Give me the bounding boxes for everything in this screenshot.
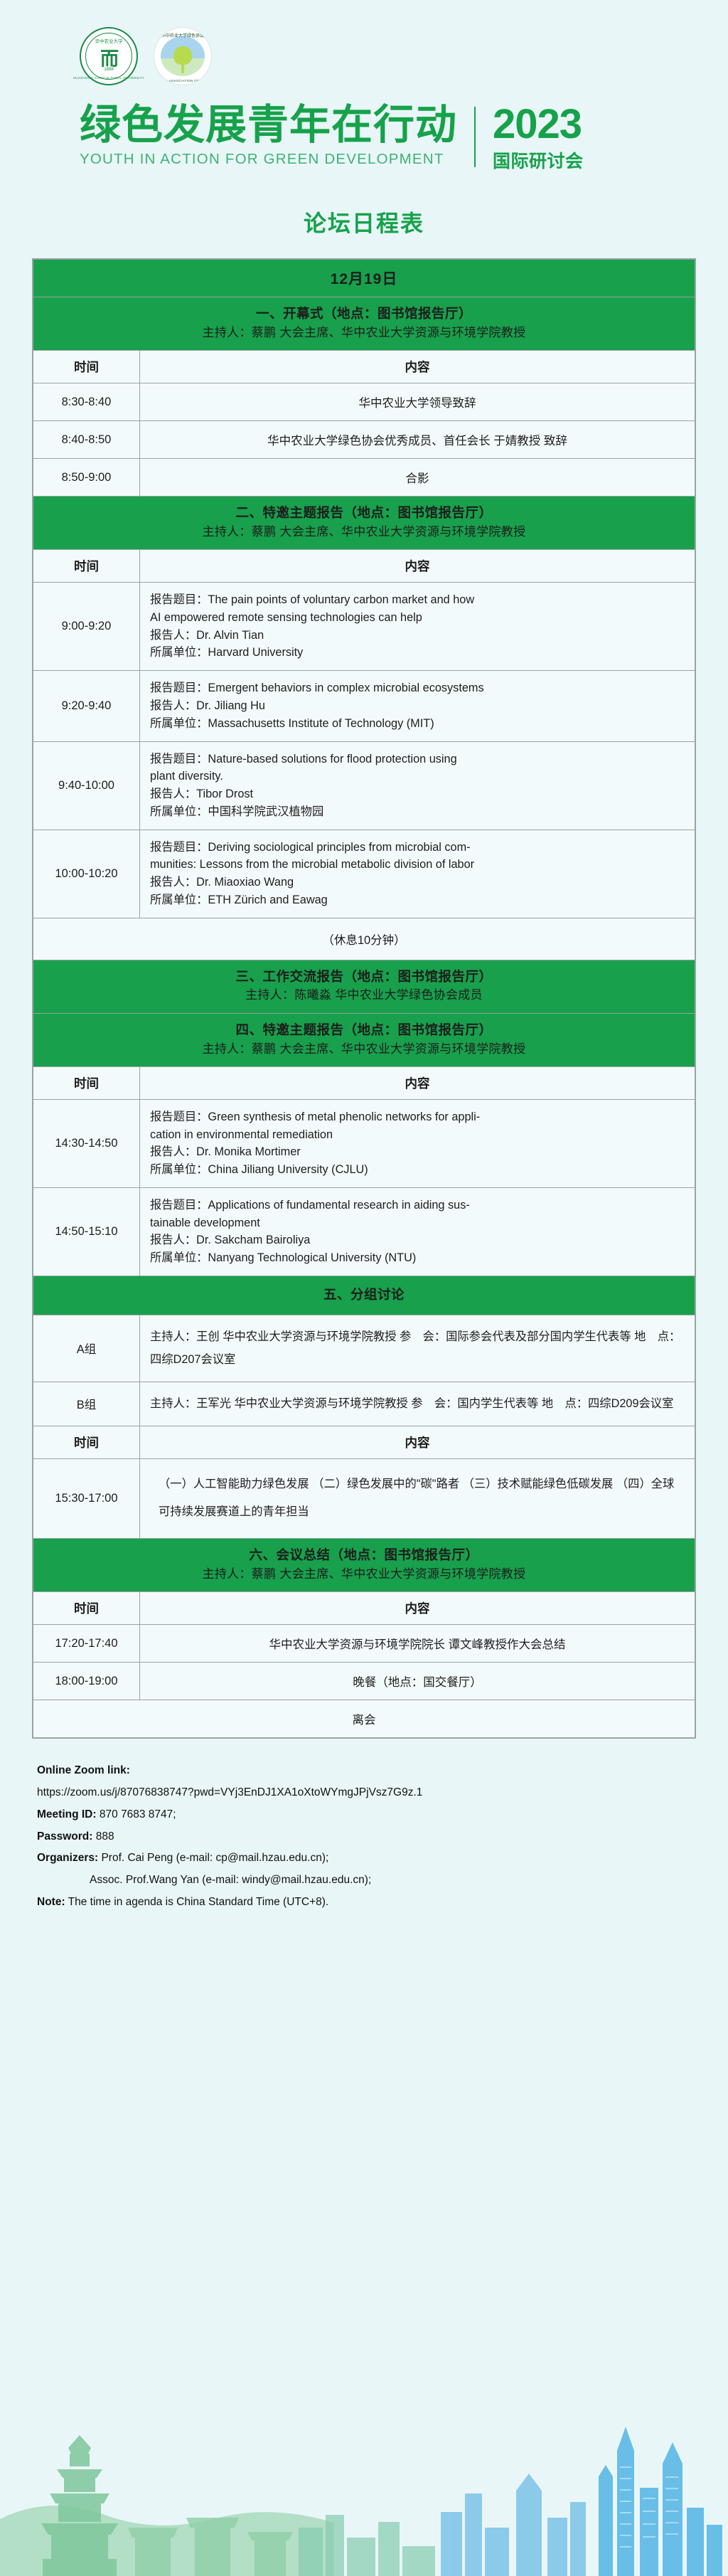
table-row: 9:40-10:00 报告题目：Nature-based solutions f… [33,741,695,829]
table-row: 9:20-9:40 报告题目：Emergent behaviors in com… [33,671,695,741]
organizer-two: Assoc. Prof.Wang Yan (e-mail: windy@mail… [90,1874,371,1886]
group-details: 主持人：王创 华中农业大学资源与环境学院教授 参 会：国际参会代表及部分国内学生… [140,1315,695,1382]
agenda-table: 12月19日 一、开幕式（地点：图书馆报告厅） 主持人：蔡鹏 大会主席、华中农业… [33,259,695,1738]
row-time: 15:30-17:00 [33,1458,140,1539]
group-location-line: 地 点：四综D209会议室 [542,1397,673,1410]
table-row: 17:20-17:40 华中农业大学资源与环境学院院长 谭文峰教授作大会总结 [33,1625,695,1663]
row-content: 合影 [140,459,695,497]
row-content: 报告题目：Deriving sociological principles fr… [140,829,695,918]
table-row: 18:00-19:00 晚餐（地点：国交餐厅） [33,1663,695,1700]
table-row: 8:50-9:00 合影 [33,459,695,497]
group-attendees-line: 参 会：国内学生代表等 [411,1397,538,1410]
note-line: Note: The time in agenda is China Standa… [37,1892,696,1914]
talk-speaker-line: 报告人：Dr. Monika Mortimer [150,1143,685,1161]
row-content: 报告题目：The pain points of voluntary carbon… [140,583,695,671]
col-header-content: 内容 [140,550,695,583]
green-hills [0,2506,334,2576]
column-header-row: 时间 内容 [33,1426,695,1458]
talk-title-line: 报告题目：The pain points of voluntary carbon… [150,591,685,609]
talk-affiliation-line: 所属单位：Massachusetts Institute of Technolo… [150,715,685,733]
mid-buildings [299,2515,435,2576]
talk-title-line: 报告题目：Green synthesis of metal phenolic n… [150,1108,685,1126]
session-banner-3: 三、工作交流报告（地点：图书馆报告厅） 主持人：陈曦淼 华中农业大学绿色协会成员 [33,960,695,1013]
group-row: B组 主持人：王军光 华中农业大学资源与环境学院教授 参 会：国内学生代表等 地… [33,1382,695,1426]
row-time: 8:30-8:40 [33,383,140,421]
row-time: 10:00-10:20 [33,829,140,918]
title-subtitle: 国际研讨会 [493,147,584,173]
col-header-content: 内容 [140,1592,695,1625]
session-banner-5: 五、分组讨论 [33,1276,695,1315]
talk-affiliation-line: 所属单位：ETH Zürich and Eawag [150,891,685,909]
col-header-content: 内容 [140,351,695,383]
note-value: The time in agenda is China Standard Tim… [68,1896,329,1908]
footer-info: Online Zoom link: https://zoom.us/j/8707… [37,1760,696,1913]
green-logo-en-text: GREEN ASSOCIATION OF HZAU [156,79,210,83]
column-header-row: 时间 内容 [33,550,695,583]
table-row: 14:50-15:10 报告题目：Applications of fundame… [33,1187,695,1276]
col-header-time: 时间 [33,1592,140,1625]
day-bar: 12月19日 [33,260,695,297]
session-host: 主持人：蔡鹏 大会主席、华中农业大学资源与环境学院教授 [42,1565,686,1584]
window-lines [620,2466,678,2548]
row-content: 华中农业大学资源与环境学院院长 谭文峰教授作大会总结 [140,1625,695,1663]
row-time: 9:00-9:20 [33,583,140,671]
table-row: 8:30-8:40 华中农业大学领导致辞 [33,383,695,421]
title-english: YOUTH IN ACTION FOR GREEN DEVELOPMENT [80,151,457,168]
meeting-id-line: Meeting ID: 870 7683 8747; [37,1804,696,1826]
column-header-row: 时间 内容 [33,351,695,383]
password-label: Password: [37,1830,92,1843]
group-details: 主持人：王军光 华中农业大学资源与环境学院教授 参 会：国内学生代表等 地 点：… [140,1382,695,1426]
hzau-logo: 华中农业大学 而 1898 HUAZHONG AGRICULTURAL UNIV… [80,27,138,85]
column-header-row: 时间 内容 [33,1066,695,1099]
group-row: A组 主持人：王创 华中农业大学资源与环境学院教授 参 会：国际参会代表及部分国… [33,1315,695,1382]
col-header-content: 内容 [140,1426,695,1458]
agenda-table-wrap: 12月19日 一、开幕式（地点：图书馆报告厅） 主持人：蔡鹏 大会主席、华中农业… [32,258,696,1739]
logo-row: 华中农业大学 而 1898 HUAZHONG AGRICULTURAL UNIV… [0,0,728,85]
hzau-logo-mark-icon: 而 [100,44,117,70]
row-time: 9:40-10:00 [33,741,140,829]
session-title: 三、工作交流报告（地点：图书馆报告厅） [42,967,686,987]
session-host: 主持人：蔡鹏 大会主席、华中农业大学资源与环境学院教授 [42,523,686,541]
day-bar-row: 12月19日 [33,260,695,297]
talk-title-line: 报告题目：Nature-based solutions for flood pr… [150,751,685,768]
row-content: 报告题目：Applications of fundamental researc… [140,1187,695,1276]
row-time: 9:20-9:40 [33,671,140,741]
talk-speaker-line: 报告人：Dr. Sakcham Bairoliya [150,1231,685,1249]
modern-skyline-right [441,2474,586,2576]
row-time: 14:30-14:50 [33,1099,140,1187]
row-content: 晚餐（地点：国交餐厅） [140,1663,695,1700]
row-time: 8:50-9:00 [33,459,140,497]
session-title: 六、会议总结（地点：图书馆报告厅） [42,1545,686,1565]
session-header-row: 二、特邀主题报告（地点：图书馆报告厅） 主持人：蔡鹏 大会主席、华中农业大学资源… [33,497,695,550]
organizers-line: Organizers: Prof. Cai Peng (e-mail: cp@m… [37,1848,696,1870]
talk-speaker-line: 报告人：Dr. Alvin Tian [150,627,685,645]
title-year: 2023 [493,104,584,145]
talk-affiliation-line: 所属单位：Nanyang Technological University (N… [150,1249,685,1267]
talk-title-line: AI empowered remote sensing technologies… [150,609,685,627]
col-header-content: 内容 [140,1066,695,1099]
password-value: 888 [96,1830,114,1843]
session-header-row: 一、开幕式（地点：图书馆报告厅） 主持人：蔡鹏 大会主席、华中农业大学资源与环境… [33,297,695,351]
row-time: 14:50-15:10 [33,1187,140,1276]
session-title: 一、开幕式（地点：图书馆报告厅） [42,304,686,324]
session-banner-4: 四、特邀主题报告（地点：图书馆报告厅） 主持人：蔡鹏 大会主席、华中农业大学资源… [33,1013,695,1066]
meeting-id-value: 870 7683 8747; [100,1808,176,1820]
group-label: B组 [33,1382,140,1426]
talk-title-line: munities: Lessons from the microbial met… [150,856,685,874]
group-host-line: 主持人：王军光 华中农业大学资源与环境学院教授 [150,1397,408,1410]
session-header-row: 五、分组讨论 [33,1276,695,1315]
yellow-crane-tower-icon [41,2435,118,2576]
departure-label: 离会 [33,1700,695,1738]
col-header-time: 时间 [33,351,140,383]
title-left: 绿色发展青年在行动 YOUTH IN ACTION FOR GREEN DEVE… [80,104,474,168]
poster-page: 华中农业大学 而 1898 HUAZHONG AGRICULTURAL UNIV… [0,0,728,2576]
break-row: （休息10分钟） [33,918,695,960]
col-header-time: 时间 [33,1066,140,1099]
note-label: Note: [37,1896,65,1908]
col-header-time: 时间 [33,550,140,583]
row-time: 17:20-17:40 [33,1625,140,1663]
session-title: 五、分组讨论 [42,1283,686,1307]
page-title: 论坛日程表 [0,206,728,238]
traditional-buildings [128,2518,293,2576]
session-header-row: 三、工作交流报告（地点：图书馆报告厅） 主持人：陈曦淼 华中农业大学绿色协会成员 [33,960,695,1013]
group-host-line: 主持人：王创 华中农业大学资源与环境学院教授 [150,1330,396,1343]
hzau-logo-cn-text: 华中农业大学 [95,37,123,44]
row-content: 华中农业大学绿色协会优秀成员、首任会长 于婧教授 致辞 [140,421,695,459]
table-row: 9:00-9:20 报告题目：The pain points of volunt… [33,583,695,671]
talk-affiliation-line: 所属单位：Harvard University [150,644,685,662]
talk-speaker-line: 报告人：Dr. Miaoxiao Wang [150,874,685,891]
talk-affiliation-line: 所属单位：China Jiliang University (CJLU) [150,1161,685,1179]
session-banner-1: 一、开幕式（地点：图书馆报告厅） 主持人：蔡鹏 大会主席、华中农业大学资源与环境… [33,297,695,351]
table-row: 15:30-17:00 （一）人工智能助力绿色发展 （二）绿色发展中的"碳"路者… [33,1458,695,1539]
zoom-link-label: Online Zoom link: [37,1760,696,1782]
row-time: 8:40-8:50 [33,421,140,459]
session-banner-6: 六、会议总结（地点：图书馆报告厅） 主持人：蔡鹏 大会主席、华中农业大学资源与环… [33,1539,695,1592]
row-content: 报告题目：Nature-based solutions for flood pr… [140,741,695,829]
row-content: 报告题目：Green synthesis of metal phenolic n… [140,1099,695,1187]
zoom-label-text: Online Zoom link: [37,1764,130,1776]
session-title: 四、特邀主题报告（地点：图书馆报告厅） [42,1020,686,1040]
talk-affiliation-line: 所属单位：中国科学院武汉植物园 [150,803,685,821]
session-banner-2: 二、特邀主题报告（地点：图书馆报告厅） 主持人：蔡鹏 大会主席、华中农业大学资源… [33,497,695,550]
column-header-row: 时间 内容 [33,1592,695,1625]
table-row: 8:40-8:50 华中农业大学绿色协会优秀成员、首任会长 于婧教授 致辞 [33,421,695,459]
session-title: 二、特邀主题报告（地点：图书馆报告厅） [42,503,686,523]
table-row: 14:30-14:50 报告题目：Green synthesis of meta… [33,1099,695,1187]
table-row: 离会 [33,1700,695,1738]
col-header-time: 时间 [33,1426,140,1458]
topic-item: （三）技术赋能绿色低碳发展 [463,1478,614,1490]
green-association-logo: 华中农业大学绿色协会 GREEN ASSOCIATION OF HZAU [154,27,212,85]
hzau-logo-en-text: HUAZHONG AGRICULTURAL UNIVERSITY [73,76,145,80]
row-content: 报告题目：Emergent behaviors in complex micro… [140,671,695,741]
talk-title-line: 报告题目：Applications of fundamental researc… [150,1197,685,1214]
tree-trunk-icon [181,62,184,73]
table-row: 10:00-10:20 报告题目：Deriving sociological p… [33,829,695,918]
talk-title-line: 报告题目：Emergent behaviors in complex micro… [150,679,685,697]
discussion-topics: （一）人工智能助力绿色发展 （二）绿色发展中的"碳"路者 （三）技术赋能绿色低碳… [140,1458,695,1539]
meeting-id-label: Meeting ID: [37,1808,97,1820]
talk-speaker-line: 报告人：Dr. Jiliang Hu [150,697,685,715]
group-attendees-line: 参 会：国际参会代表及部分国内学生代表等 [400,1330,631,1343]
talk-speaker-line: 报告人：Tibor Drost [150,785,685,803]
title-block: 绿色发展青年在行动 YOUTH IN ACTION FOR GREEN DEVE… [0,85,728,173]
session-host: 主持人：蔡鹏 大会主席、华中农业大学资源与环境学院教授 [42,324,686,342]
organizer-two-line: Assoc. Prof.Wang Yan (e-mail: windy@mail… [37,1870,696,1892]
title-chinese: 绿色发展青年在行动 [80,104,457,147]
session-host: 主持人：蔡鹏 大会主席、华中农业大学资源与环境学院教授 [42,1040,686,1059]
session-header-row: 六、会议总结（地点：图书馆报告厅） 主持人：蔡鹏 大会主席、华中农业大学资源与环… [33,1539,695,1592]
organizers-label: Organizers: [37,1852,98,1864]
topic-item: （二）绿色发展中的"碳"路者 [312,1478,459,1490]
talk-title-line: plant diversity. [150,768,685,785]
break-label: （休息10分钟） [33,918,695,960]
talk-title-line: cation in environmental remediation [150,1126,685,1144]
zoom-url[interactable]: https://zoom.us/j/87076838747?pwd=VYj3En… [37,1782,696,1804]
hzau-logo-year: 1898 [104,68,113,72]
shanghai-tower-icon [599,2427,722,2576]
city-skyline-decoration [0,2341,728,2576]
talk-title-line: 报告题目：Deriving sociological principles fr… [150,839,685,857]
green-logo-cn-text: 华中农业大学绿色协会 [161,32,204,38]
row-time: 18:00-19:00 [33,1663,140,1700]
password-line: Password: 888 [37,1826,696,1848]
title-right: 2023 国际研讨会 [476,104,584,173]
topic-item: （一）人工智能助力绿色发展 [159,1478,309,1490]
organizer-one: Prof. Cai Peng (e-mail: cp@mail.hzau.edu… [101,1852,328,1864]
talk-title-line: tainable development [150,1214,685,1232]
session-header-row: 四、特邀主题报告（地点：图书馆报告厅） 主持人：蔡鹏 大会主席、华中农业大学资源… [33,1013,695,1066]
session-host: 主持人：陈曦淼 华中农业大学绿色协会成员 [42,986,686,1005]
row-content: 华中农业大学领导致辞 [140,383,695,421]
group-label: A组 [33,1315,140,1382]
